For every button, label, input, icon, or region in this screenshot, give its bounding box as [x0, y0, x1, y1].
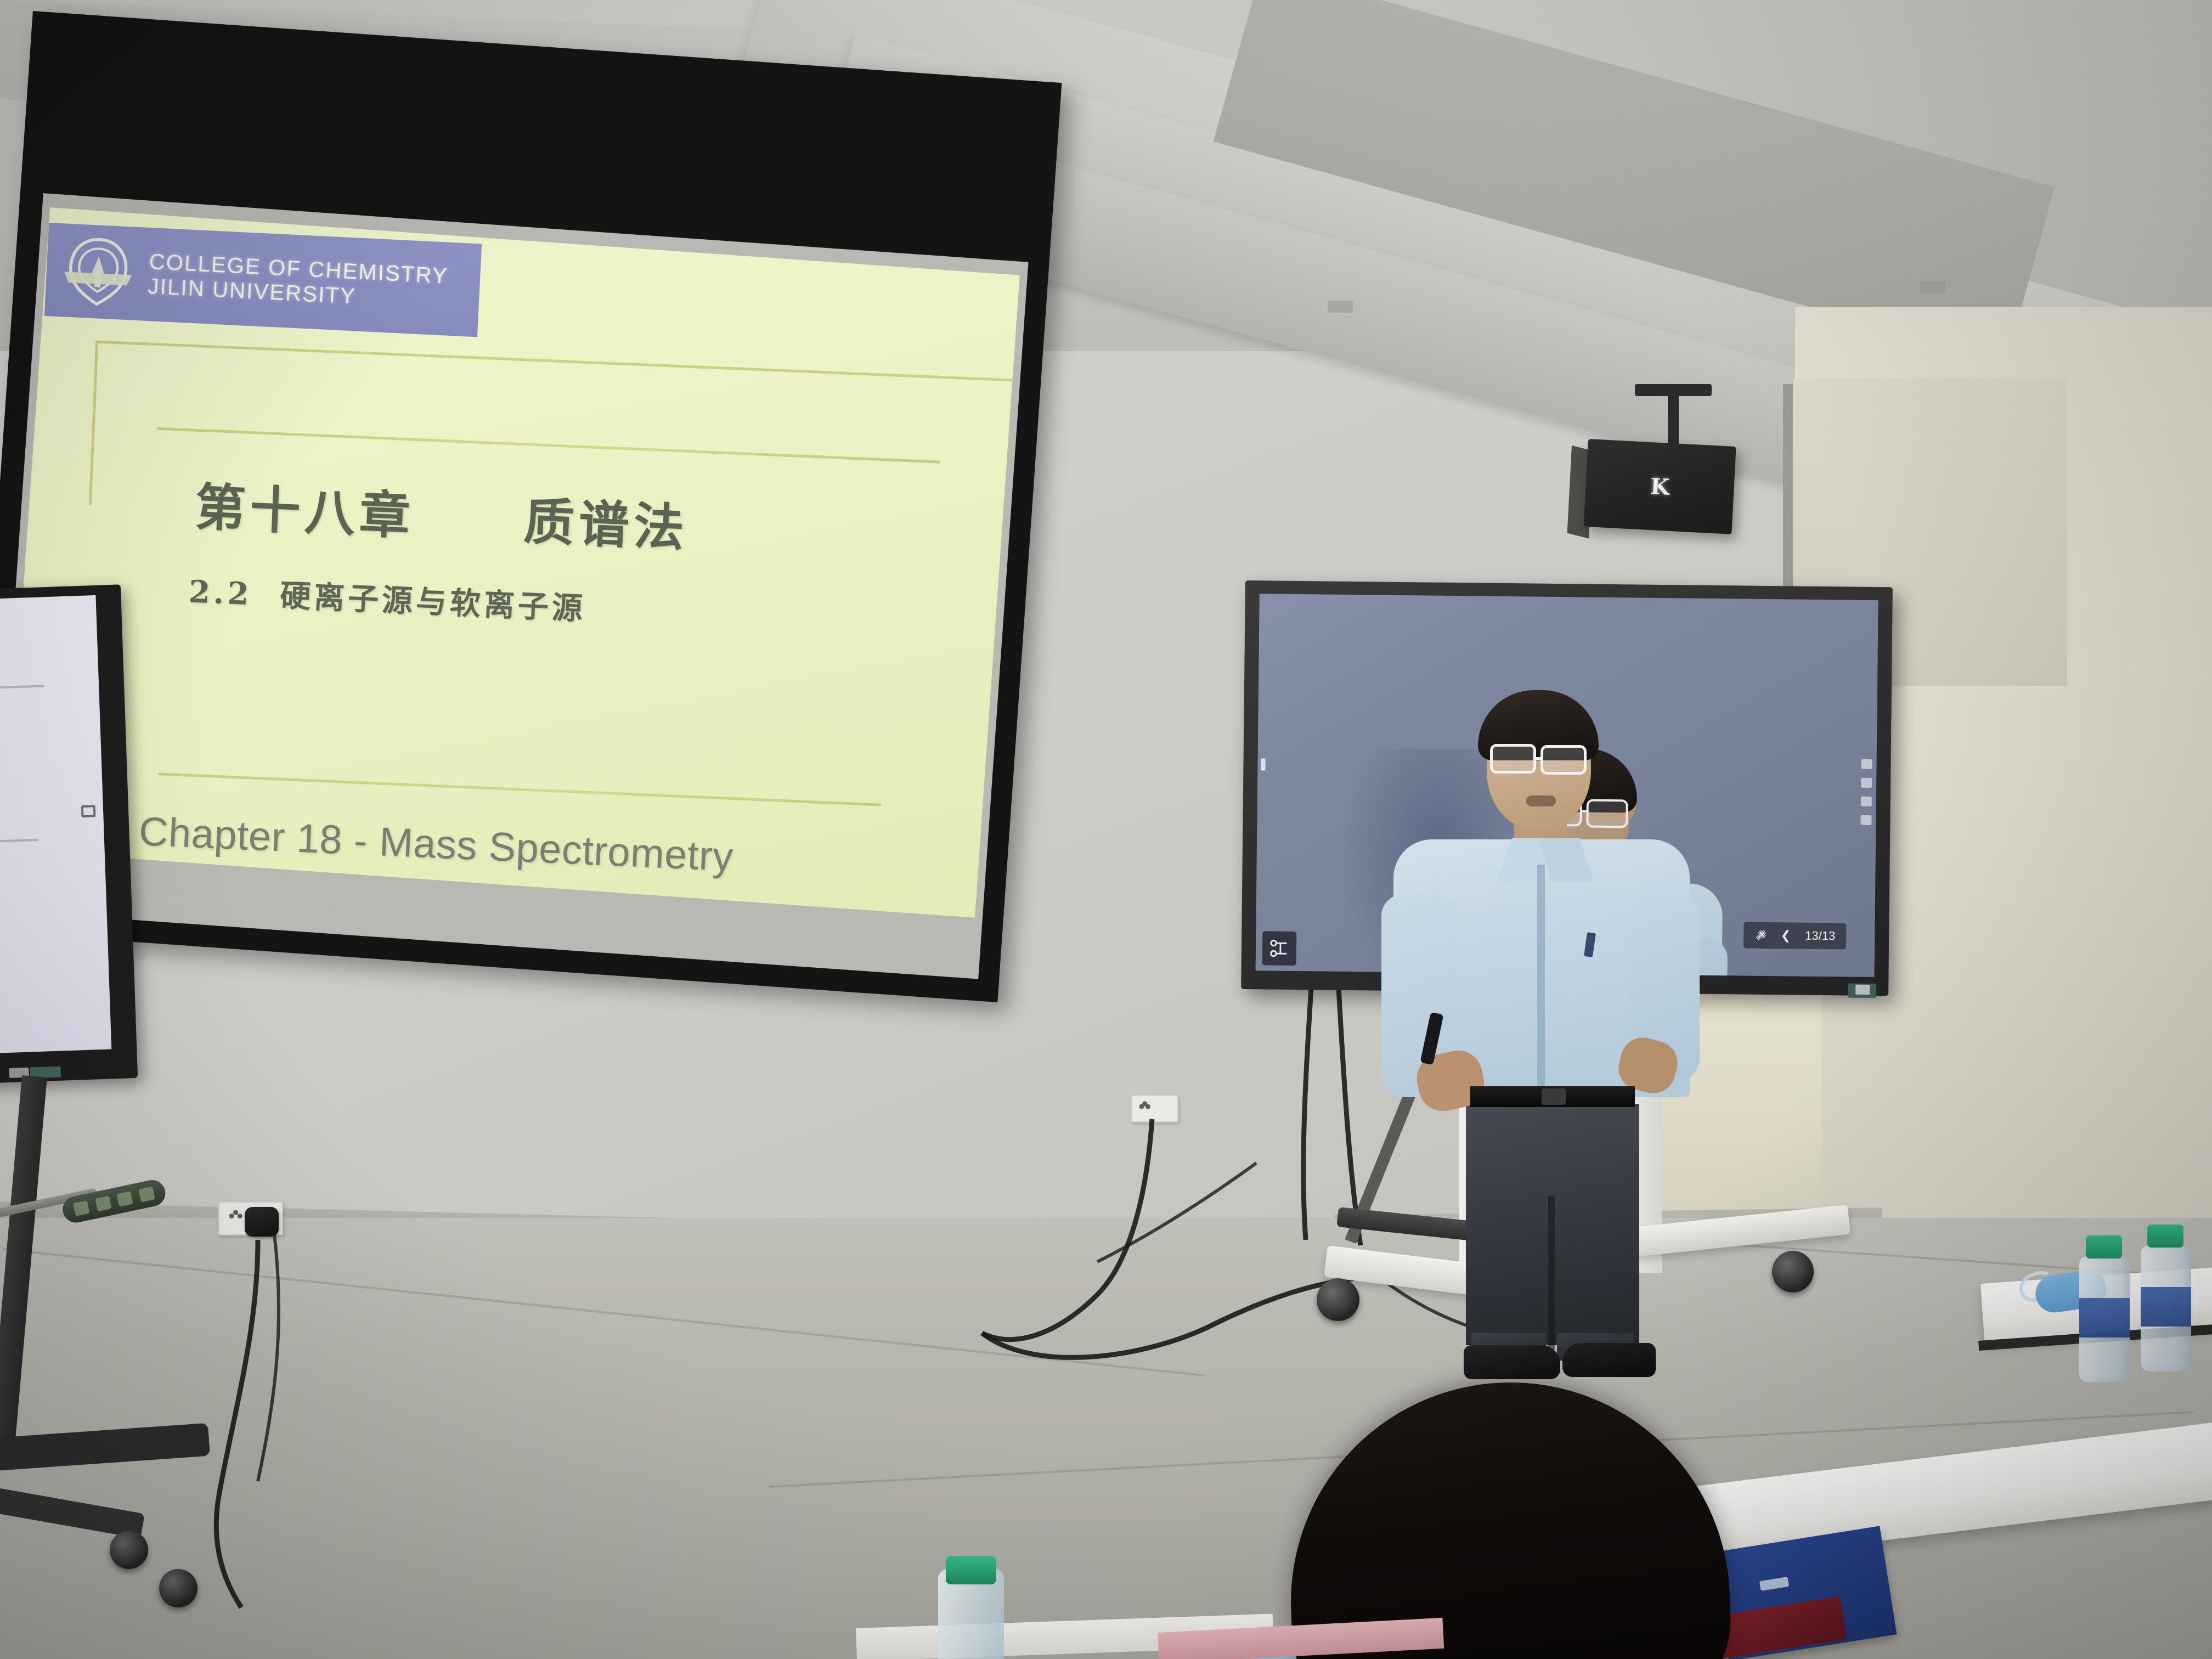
- caster-wheel-center: [159, 1569, 198, 1607]
- eyeglasses-right-lens: [1541, 745, 1587, 775]
- presenter-shoe-right: [1562, 1343, 1656, 1377]
- keyboard-icon[interactable]: [1860, 815, 1871, 825]
- speaker-mount-arm: [1668, 387, 1679, 448]
- page-counter: 13/13: [1805, 929, 1835, 944]
- monitor-screen[interactable]: [0, 595, 111, 1056]
- cart-caster-right: [1772, 1251, 1814, 1293]
- confidence-monitor[interactable]: [0, 584, 138, 1086]
- presenter-belt-buckle: [1542, 1088, 1566, 1105]
- monitor-text-line-1: [0, 685, 44, 692]
- mic-grille-1: [73, 1200, 89, 1216]
- wall-outlet-right[interactable]: [1131, 1095, 1178, 1122]
- ceiling-vent-left: [1328, 301, 1353, 313]
- slide-logo-bar: COLLEGE OF CHEMISTRY JILIN UNIVERSITY: [44, 223, 482, 337]
- flat-panel-side-toolbar[interactable]: [1860, 759, 1872, 825]
- mic-grille-4: [138, 1187, 155, 1203]
- water-bottle-1-cap: [2086, 1235, 2122, 1259]
- slide-rule-bottom: [158, 772, 882, 806]
- home-icon[interactable]: [1861, 778, 1872, 788]
- menu-icon[interactable]: [1861, 759, 1872, 769]
- slide-logo-text: COLLEGE OF CHEMISTRY JILIN UNIVERSITY: [148, 250, 449, 313]
- monitor-text-line-2: [0, 839, 38, 845]
- projected-slide: COLLEGE OF CHEMISTRY JILIN UNIVERSITY 第十…: [3, 207, 1020, 954]
- water-bottle-foreground-cap: [946, 1556, 996, 1584]
- speaker-brand-logo: K: [1650, 473, 1670, 500]
- slide-chinese-subtitle: 2.2 硬离子源与软离子源: [188, 567, 902, 642]
- power-plug-left[interactable]: [245, 1207, 279, 1237]
- monitor-window-icon: [81, 805, 96, 817]
- presenter-mouth: [1526, 795, 1556, 806]
- apps-icon[interactable]: [1861, 797, 1872, 806]
- eyeglasses-icon: [1490, 744, 1536, 774]
- flat-panel-ir-sensor-icon: [1855, 985, 1870, 995]
- whiteboard-tools-icon[interactable]: [1262, 931, 1297, 966]
- ceiling-vent-right: [1920, 281, 1945, 293]
- flat-panel-edge-handle-left[interactable]: [1261, 758, 1265, 770]
- chevron-left-icon[interactable]: ❮: [1781, 928, 1791, 943]
- university-crest-icon: [58, 232, 139, 312]
- eyeglasses-bridge: [1535, 757, 1543, 760]
- caster-wheel-left: [110, 1531, 148, 1569]
- floor-seam-1: [3, 1248, 1204, 1376]
- water-bottle-1-label: [2079, 1298, 2130, 1338]
- presenter-trouser-seam: [1548, 1196, 1555, 1350]
- projection-screen: COLLEGE OF CHEMISTRY JILIN UNIVERSITY 第十…: [0, 11, 1089, 1026]
- presenter-shoe-left: [1464, 1345, 1560, 1379]
- outlet-socket-holes-right: [1137, 1101, 1153, 1113]
- water-bottle-2-cap: [2147, 1224, 2183, 1248]
- ceiling-speaker-icon: K: [1584, 439, 1736, 534]
- water-bottle-2-label: [2141, 1287, 2191, 1327]
- lecture-hall-scene: K COLLEGE OF: [0, 0, 2212, 1659]
- mic-grille-2: [95, 1195, 111, 1211]
- mic-grille-3: [117, 1191, 133, 1207]
- video-feed-glasses-bridge: [1581, 810, 1589, 812]
- flat-panel-page-toolbar[interactable]: ✟ ❮ 13/13: [1743, 922, 1847, 950]
- pin-icon[interactable]: ✟: [1750, 925, 1770, 945]
- video-feed-eyeglasses-right: [1586, 799, 1628, 828]
- presenter-shirt-placket: [1537, 865, 1545, 1095]
- cart-caster-left: [1317, 1278, 1359, 1321]
- outlet-socket-holes: [225, 1209, 247, 1224]
